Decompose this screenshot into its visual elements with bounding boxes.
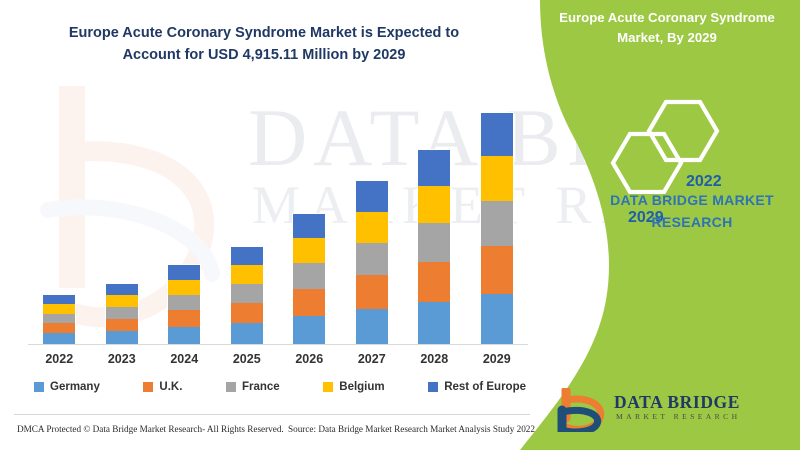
bar-segment-2025-belgium[interactable] xyxy=(231,265,263,284)
data-bridge-mark-icon xyxy=(556,388,612,432)
bar-segment-2024-germany[interactable] xyxy=(168,327,200,344)
hexagon-group: 2029 2022 xyxy=(608,78,748,194)
legend-label-france: France xyxy=(242,381,280,393)
chart-title-line2: Account for USD 4,915.11 Million by 2029 xyxy=(34,44,494,66)
bar-segment-2027-rest-of-europe[interactable] xyxy=(356,181,388,211)
panel-brand-line2: RESEARCH xyxy=(592,212,792,234)
hexagon-label-2022: 2022 xyxy=(686,173,722,191)
chart-title: Europe Acute Coronary Syndrome Market is… xyxy=(34,22,494,67)
bar-2025[interactable] xyxy=(230,246,264,344)
bar-segment-2024-rest-of-europe[interactable] xyxy=(168,265,200,280)
bar-segment-2022-germany[interactable] xyxy=(43,333,75,344)
infographic-root: DATA BRIDGE MARKET RESEARCH Europe Acute… xyxy=(0,0,800,450)
legend-swatch-france xyxy=(226,382,236,392)
hexagon-2029-shape xyxy=(613,134,681,192)
x-axis-label-2025: 2025 xyxy=(219,352,275,366)
x-axis-labels: 20222023202420252026202720282029 xyxy=(28,352,528,374)
x-axis-label-2028: 2028 xyxy=(406,352,462,366)
bar-segment-2024-belgium[interactable] xyxy=(168,280,200,295)
legend-label-belgium: Belgium xyxy=(339,381,384,393)
legend-item-u-k[interactable]: U.K. xyxy=(143,381,182,393)
panel-title: Europe Acute Coronary Syndrome Market, B… xyxy=(548,8,786,48)
bar-2026[interactable] xyxy=(292,213,326,344)
bar-segment-2029-rest-of-europe[interactable] xyxy=(481,113,513,156)
legend-swatch-belgium xyxy=(323,382,333,392)
bar-segment-2029-u-k[interactable] xyxy=(481,246,513,294)
bar-segment-2027-belgium[interactable] xyxy=(356,212,388,243)
bar-segment-2023-u-k[interactable] xyxy=(106,319,138,331)
bar-segment-2022-france[interactable] xyxy=(43,314,75,324)
legend-item-rest-of-europe[interactable]: Rest of Europe xyxy=(428,381,526,393)
legend-label-u-k: U.K. xyxy=(159,381,182,393)
bar-segment-2028-u-k[interactable] xyxy=(418,262,450,302)
legend-item-germany[interactable]: Germany xyxy=(34,381,100,393)
bar-segment-2029-france[interactable] xyxy=(481,201,513,246)
x-axis-label-2026: 2026 xyxy=(281,352,337,366)
bar-segment-2026-france[interactable] xyxy=(293,263,325,289)
legend-swatch-u-k xyxy=(143,382,153,392)
panel-brand-text: DATA BRIDGE MARKET RESEARCH xyxy=(592,190,792,233)
bar-segment-2023-belgium[interactable] xyxy=(106,295,138,307)
bar-segment-2029-belgium[interactable] xyxy=(481,156,513,201)
bar-2028[interactable] xyxy=(417,149,451,344)
footer-divider xyxy=(14,414,530,415)
x-axis-label-2023: 2023 xyxy=(94,352,150,366)
x-axis-label-2022: 2022 xyxy=(31,352,87,366)
bar-segment-2026-belgium[interactable] xyxy=(293,238,325,263)
chart-legend: GermanyU.K.FranceBelgiumRest of Europe xyxy=(34,381,526,393)
bar-segment-2028-belgium[interactable] xyxy=(418,186,450,223)
bar-segment-2022-u-k[interactable] xyxy=(43,323,75,333)
bar-2029[interactable] xyxy=(480,112,514,344)
bar-segment-2023-germany[interactable] xyxy=(106,331,138,344)
bar-2022[interactable] xyxy=(42,294,76,344)
bar-segment-2027-u-k[interactable] xyxy=(356,275,388,309)
bar-segment-2023-rest-of-europe[interactable] xyxy=(106,284,138,295)
bar-segment-2027-france[interactable] xyxy=(356,243,388,275)
bar-segment-2028-france[interactable] xyxy=(418,223,450,261)
chart-title-line1: Europe Acute Coronary Syndrome Market is… xyxy=(34,22,494,44)
bar-segment-2026-u-k[interactable] xyxy=(293,289,325,316)
footer-source-text: Source: Data Bridge Market Research Mark… xyxy=(288,424,535,434)
x-axis-label-2024: 2024 xyxy=(156,352,212,366)
bar-segment-2028-germany[interactable] xyxy=(418,302,450,344)
footer-dmca-text: DMCA Protected © Data Bridge Market Rese… xyxy=(17,424,284,434)
bar-2023[interactable] xyxy=(105,283,139,344)
bar-segment-2025-germany[interactable] xyxy=(231,323,263,344)
bar-segment-2025-rest-of-europe[interactable] xyxy=(231,247,263,265)
data-bridge-logo: DATA BRIDGE MARKET RESEARCH xyxy=(556,388,756,434)
hexagon-2022-shape xyxy=(649,102,717,160)
legend-swatch-germany xyxy=(34,382,44,392)
bar-2024[interactable] xyxy=(167,264,201,344)
bar-segment-2026-rest-of-europe[interactable] xyxy=(293,214,325,238)
bar-segment-2028-rest-of-europe[interactable] xyxy=(418,150,450,186)
bar-segment-2027-germany[interactable] xyxy=(356,309,388,344)
bar-segment-2025-france[interactable] xyxy=(231,284,263,303)
panel-title-line2: Market, By 2029 xyxy=(548,28,786,48)
x-axis-line xyxy=(28,344,528,345)
bar-segment-2029-germany[interactable] xyxy=(481,294,513,344)
bar-segment-2022-rest-of-europe[interactable] xyxy=(43,295,75,304)
legend-label-germany: Germany xyxy=(50,381,100,393)
bar-segment-2023-france[interactable] xyxy=(106,307,138,319)
hexagon-pair-icon xyxy=(608,78,748,194)
bar-chart-plot-area xyxy=(28,96,528,345)
panel-brand-line1: DATA BRIDGE MARKET xyxy=(592,190,792,212)
legend-item-france[interactable]: France xyxy=(226,381,280,393)
logo-subtitle: MARKET RESEARCH xyxy=(616,412,741,421)
bar-segment-2025-u-k[interactable] xyxy=(231,303,263,323)
bar-segment-2024-u-k[interactable] xyxy=(168,310,200,326)
x-axis-label-2029: 2029 xyxy=(469,352,525,366)
legend-item-belgium[interactable]: Belgium xyxy=(323,381,384,393)
bar-segment-2024-france[interactable] xyxy=(168,295,200,311)
bar-2027[interactable] xyxy=(355,180,389,344)
bar-segment-2022-belgium[interactable] xyxy=(43,304,75,313)
legend-swatch-rest-of-europe xyxy=(428,382,438,392)
x-axis-label-2027: 2027 xyxy=(344,352,400,366)
legend-label-rest-of-europe: Rest of Europe xyxy=(444,381,526,393)
bar-segment-2026-germany[interactable] xyxy=(293,316,325,344)
logo-title: DATA BRIDGE xyxy=(614,392,740,413)
panel-title-line1: Europe Acute Coronary Syndrome xyxy=(548,8,786,28)
